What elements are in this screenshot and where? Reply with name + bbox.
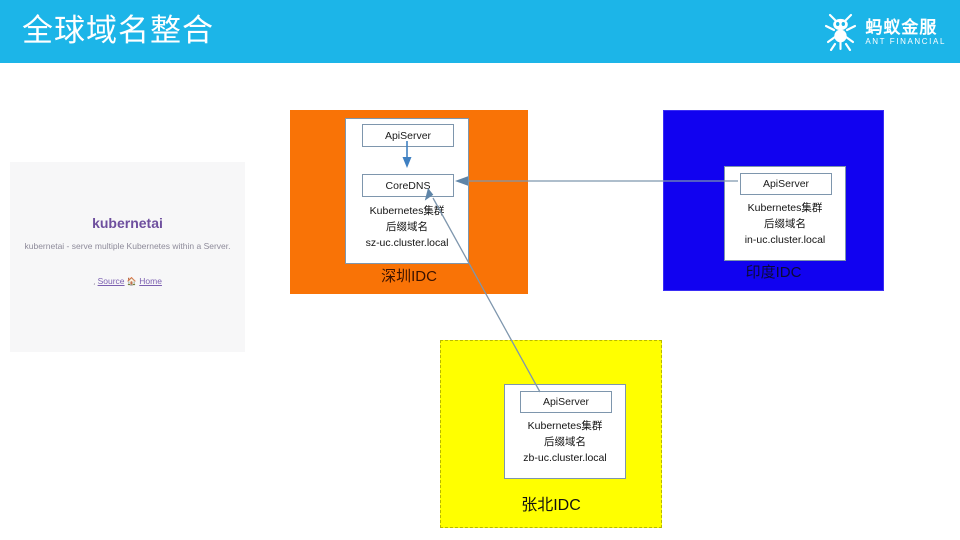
branch-icon: ⸲: [93, 277, 95, 286]
kubernetai-description: kubernetai - serve multiple Kubernetes w…: [20, 240, 235, 254]
cluster-line2-shenzhen: 后缀域名: [346, 219, 468, 235]
apiserver-box-india[interactable]: ApiServer: [740, 173, 832, 195]
kubernetai-card: kubernetai kubernetai - serve multiple K…: [10, 162, 245, 352]
kubernetai-links: ⸲ Source 🏠 Home: [10, 276, 245, 287]
coredns-box-shenzhen[interactable]: CoreDNS: [362, 174, 454, 197]
page-title: 全球域名整合: [22, 11, 214, 51]
cluster-panel-shenzhen: ApiServer CoreDNS Kubernetes集群 后缀域名 sz-u…: [345, 118, 469, 264]
cluster-line1-india: Kubernetes集群: [725, 200, 845, 216]
apiserver-box-shenzhen[interactable]: ApiServer: [362, 124, 454, 147]
cluster-info-india: Kubernetes集群 后缀域名 in-uc.cluster.local: [725, 200, 845, 248]
cluster-line1-shenzhen: Kubernetes集群: [346, 203, 468, 219]
apiserver-box-zhangbei[interactable]: ApiServer: [520, 391, 612, 413]
logo-text-en: ANT FINANCIAL: [865, 37, 946, 47]
cluster-domain-zhangbei: zb-uc.cluster.local: [505, 450, 625, 466]
idc-block-shenzhen: ApiServer CoreDNS Kubernetes集群 后缀域名 sz-u…: [290, 110, 528, 294]
slide-header: 全球域名整合 蚂蚁金服: [0, 0, 960, 63]
slide-canvas: 全球域名整合 蚂蚁金服: [0, 0, 960, 540]
cluster-info-shenzhen: Kubernetes集群 后缀域名 sz-uc.cluster.local: [346, 203, 468, 251]
idc-label-india: 印度IDC: [664, 261, 883, 282]
ant-logo-icon: [824, 13, 858, 51]
kubernetai-title: kubernetai: [10, 215, 245, 231]
idc-block-zhangbei: ApiServer Kubernetes集群 后缀域名 zb-uc.cluste…: [440, 340, 662, 528]
idc-label-shenzhen: 深圳IDC: [290, 265, 528, 286]
cluster-panel-india: ApiServer Kubernetes集群 后缀域名 in-uc.cluste…: [724, 166, 846, 261]
home-icon: 🏠: [127, 277, 137, 286]
cluster-domain-shenzhen: sz-uc.cluster.local: [346, 235, 468, 251]
cluster-info-zhangbei: Kubernetes集群 后缀域名 zb-uc.cluster.local: [505, 418, 625, 466]
idc-label-zhangbei: 张北IDC: [441, 491, 661, 515]
cluster-line2-zhangbei: 后缀域名: [505, 434, 625, 450]
cluster-domain-india: in-uc.cluster.local: [725, 232, 845, 248]
cluster-line2-india: 后缀域名: [725, 216, 845, 232]
source-link[interactable]: Source: [98, 276, 125, 286]
ant-financial-logo: 蚂蚁金服 ANT FINANCIAL: [824, 12, 946, 52]
home-link[interactable]: Home: [139, 276, 162, 286]
cluster-panel-zhangbei: ApiServer Kubernetes集群 后缀域名 zb-uc.cluste…: [504, 384, 626, 479]
logo-text-cn: 蚂蚁金服: [865, 18, 946, 37]
logo-wordmark: 蚂蚁金服 ANT FINANCIAL: [865, 18, 946, 47]
cluster-line1-zhangbei: Kubernetes集群: [505, 418, 625, 434]
idc-block-india: ApiServer Kubernetes集群 后缀域名 in-uc.cluste…: [663, 110, 884, 291]
